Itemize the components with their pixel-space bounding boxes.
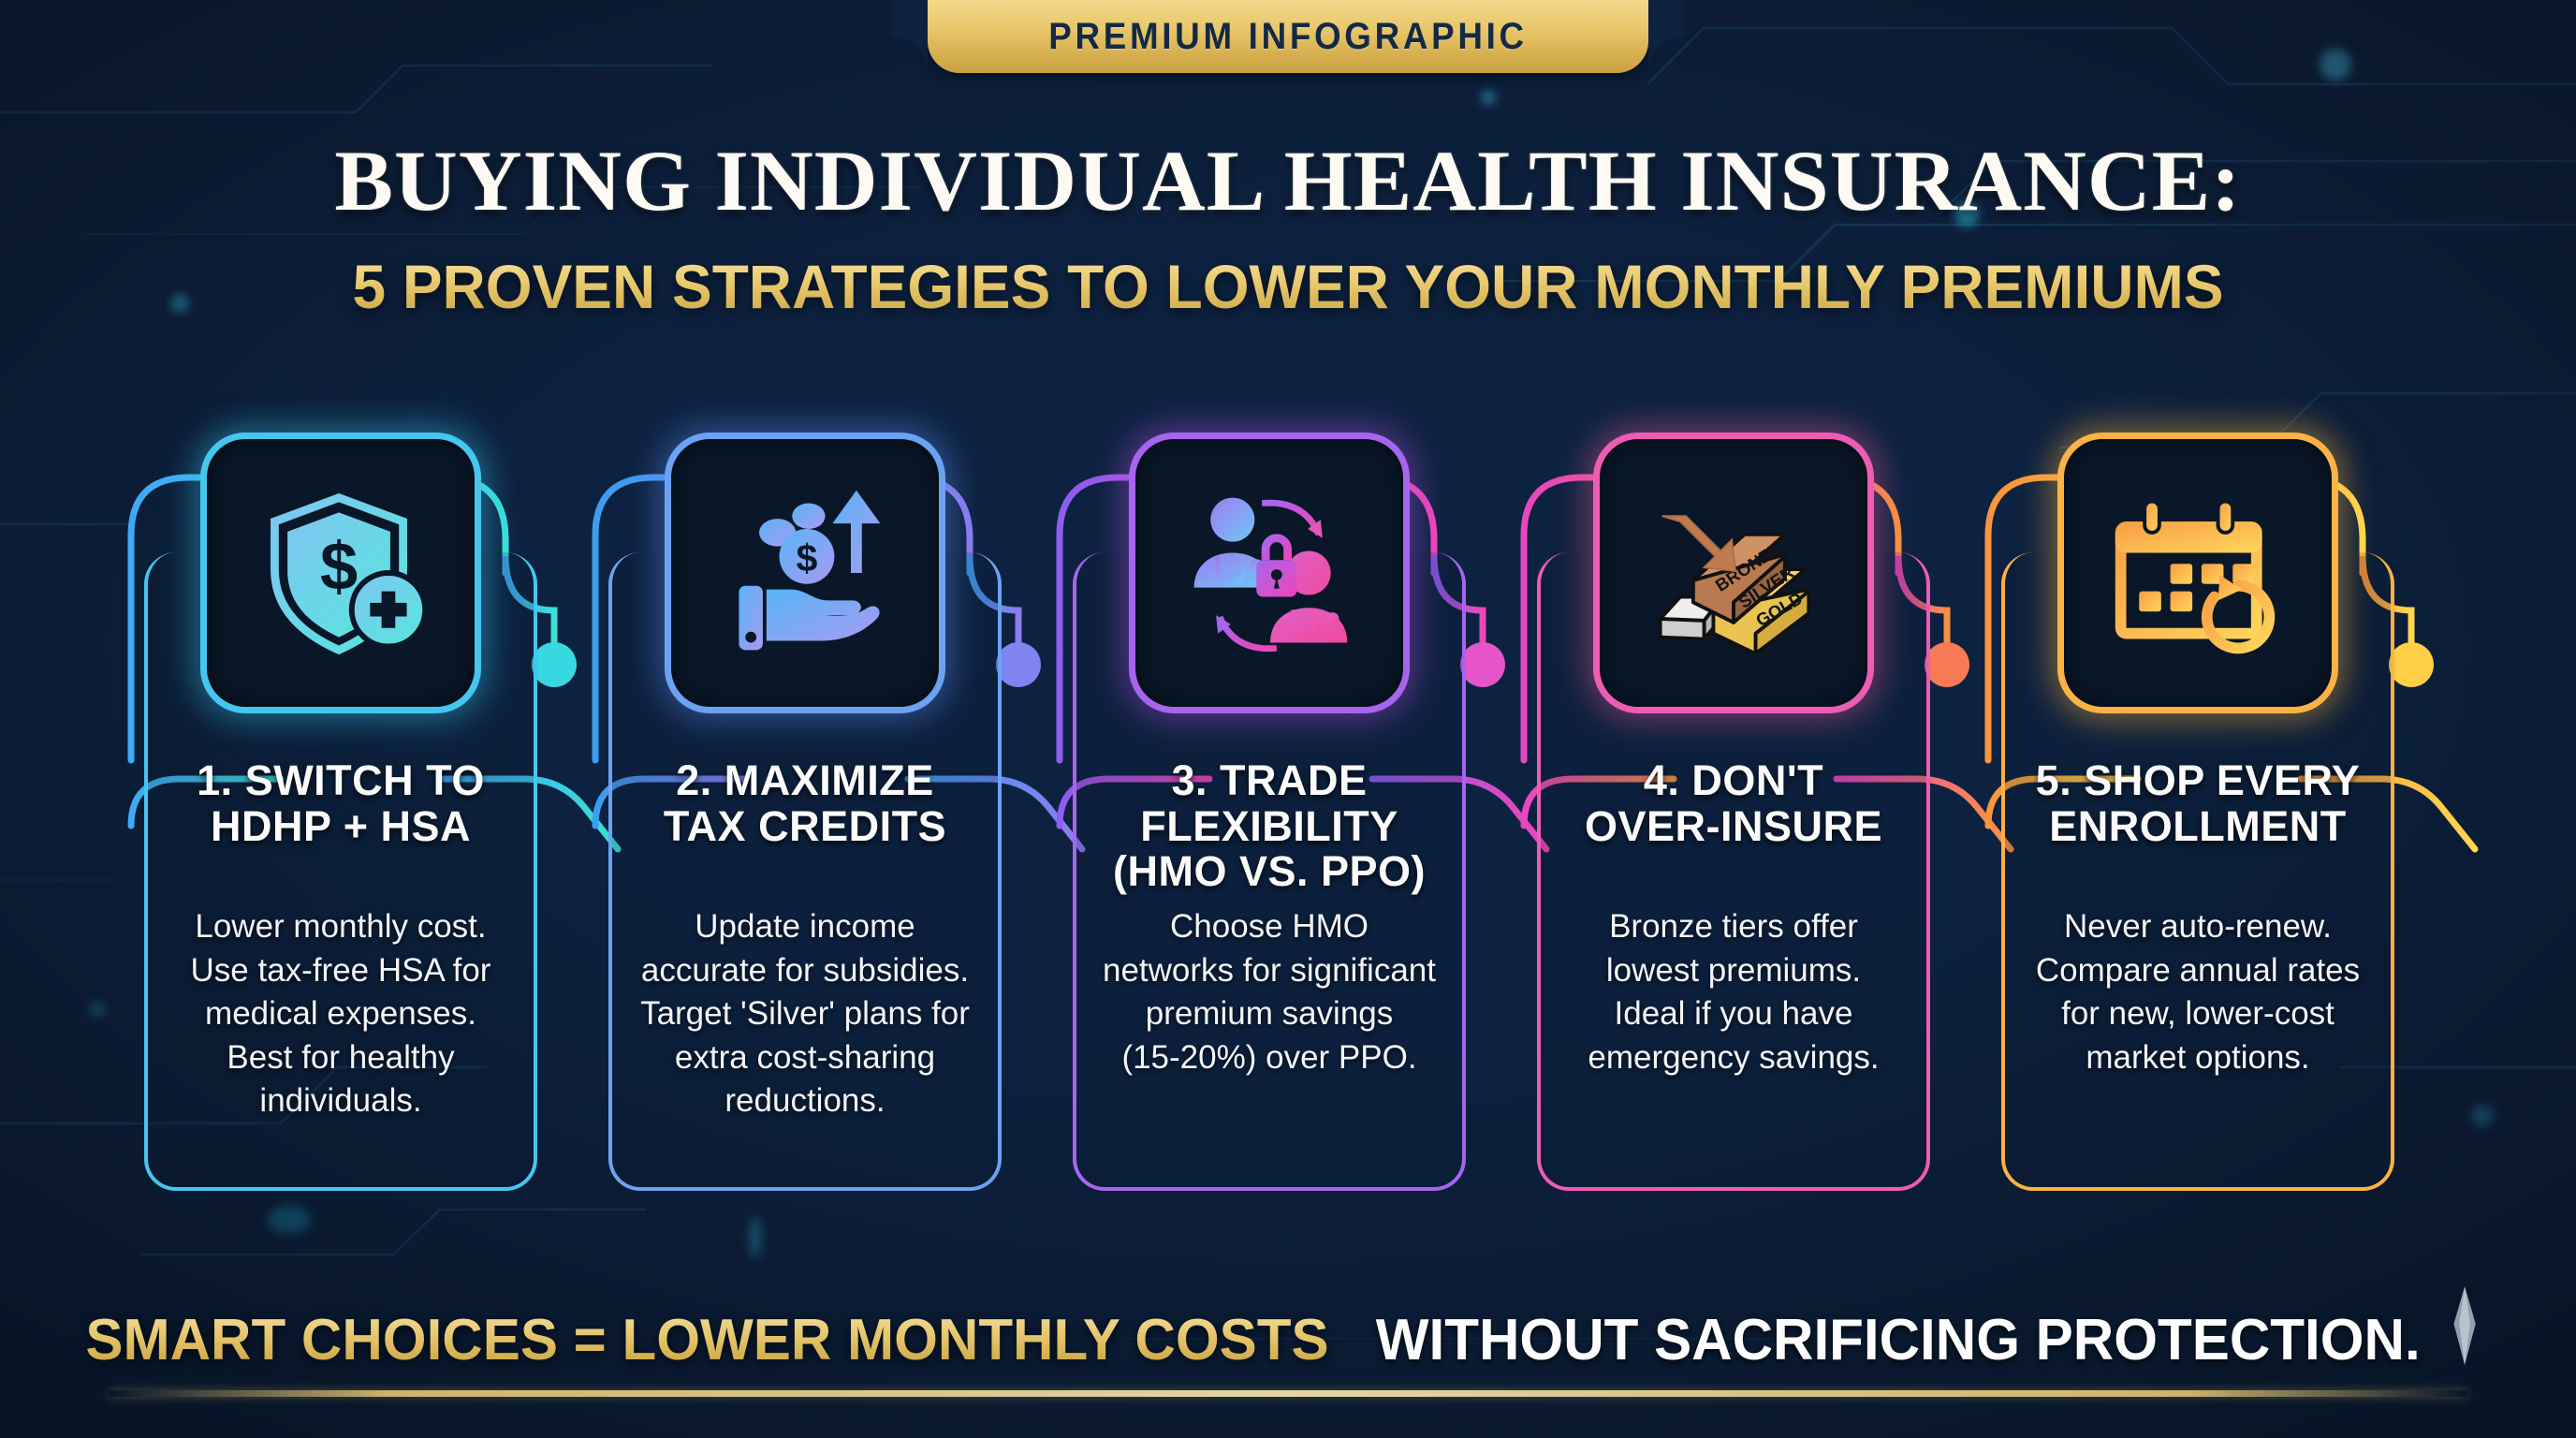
calendar-refresh-icon (2057, 433, 2338, 713)
doctors-swap-lock-icon (1129, 433, 1410, 713)
card-heading: 5. SHOP EVERY ENROLLMENT (1986, 758, 2409, 849)
card-body: Lower monthly cost. Use tax-free HSA for… (146, 905, 535, 1123)
footer-gold-text: SMART CHOICES = LOWER MONTHLY COSTS (85, 1308, 1328, 1372)
card-body: Never auto-renew. Compare annual rates f… (2003, 905, 2393, 1079)
card-heading: 4. DON'T OVER-INSURE (1522, 758, 1945, 849)
shield-dollar-plus-icon: $ (200, 433, 481, 713)
strategy-card-4[interactable]: GOLD BRONZE SILVER 4. DON'T OVER-INSURE … (1515, 433, 1953, 1200)
card-body: Choose HMO networks for significant prem… (1075, 905, 1464, 1079)
page-title: BUYING INDIVIDUAL HEALTH INSURANCE: (0, 131, 2576, 230)
strategy-card-1[interactable]: $ 1. SWITCH TO HDHP + HSA Lower monthly … (122, 433, 560, 1200)
svg-text:$: $ (320, 529, 358, 605)
metal-bars-tiers-icon: GOLD BRONZE SILVER (1593, 433, 1874, 713)
footer-tagline: SMART CHOICES = LOWER MONTHLY COSTS WITH… (38, 1286, 2537, 1373)
strategy-cards-row: $ 1. SWITCH TO HDHP + HSA Lower monthly … (0, 423, 2576, 1219)
ribbon-label: PREMIUM INFOGRAPHIC (1048, 16, 1528, 58)
card-body: Bronze tiers offer lowest premiums. Idea… (1539, 905, 1928, 1079)
strategy-card-3[interactable]: 3. TRADE FLEXIBILITY (HMO VS. PPO) Choos… (1050, 433, 1488, 1200)
hand-coins-arrow-up-icon: $ (665, 433, 945, 713)
footer-divider-rule (109, 1390, 2467, 1397)
strategy-card-5[interactable]: 5. SHOP EVERY ENROLLMENT Never auto-rene… (1979, 433, 2417, 1200)
card-body: Update income accurate for subsidies. Ta… (610, 905, 1000, 1123)
card-heading: 3. TRADE FLEXIBILITY (HMO VS. PPO) (1058, 758, 1481, 895)
footer-white-text: WITHOUT SACRIFICING PROTECTION. (1376, 1308, 2421, 1372)
page-subtitle: 5 PROVEN STRATEGIES TO LOWER YOUR MONTHL… (38, 251, 2537, 322)
svg-text:$: $ (797, 536, 818, 580)
card-heading: 1. SWITCH TO HDHP + HSA (129, 758, 552, 849)
strategy-card-2[interactable]: $ 2. MAXIMIZE TAX CREDITS Update income … (586, 433, 1024, 1200)
diamond-sparkle-icon (2439, 1286, 2490, 1365)
card-heading: 2. MAXIMIZE TAX CREDITS (593, 758, 1017, 849)
premium-ribbon: PREMIUM INFOGRAPHIC (928, 0, 1648, 73)
